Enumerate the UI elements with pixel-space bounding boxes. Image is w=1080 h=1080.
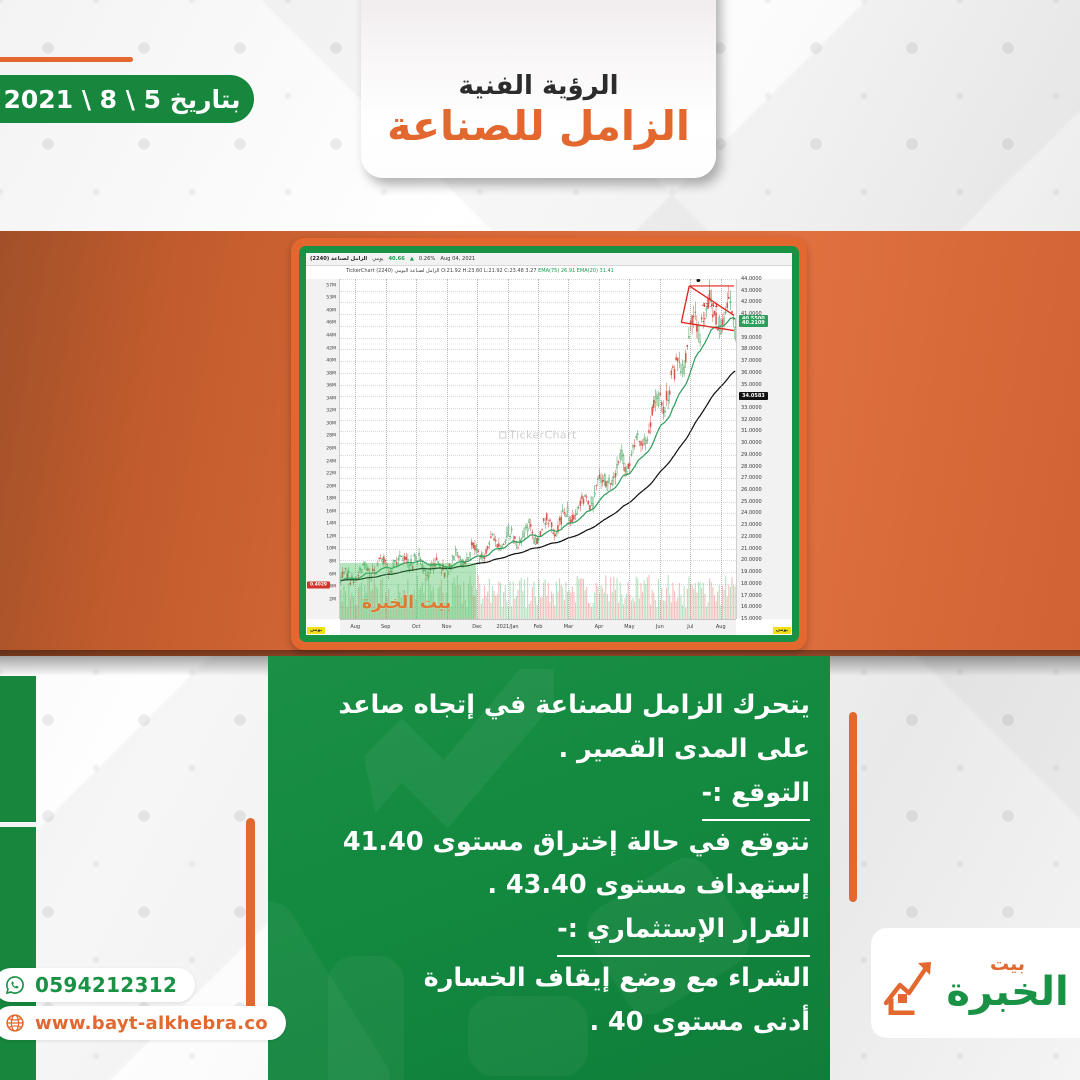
chart-ema75: EMA(75) 26.91 bbox=[538, 268, 575, 274]
contact-website-url: www.bayt-alkhebra.co bbox=[35, 1013, 268, 1034]
volume-tick: 44M bbox=[326, 334, 336, 339]
volume-tick: 22M bbox=[326, 472, 336, 477]
price-tick: 39.0000 bbox=[741, 335, 762, 341]
date-tick: Sep bbox=[381, 624, 390, 630]
date-tick: Feb bbox=[534, 624, 543, 630]
title-card: الرؤية الفنية الزامل للصناعة bbox=[361, 0, 716, 178]
analysis-heading-forecast: التوقع :- bbox=[702, 772, 811, 821]
grid-line-vertical bbox=[599, 279, 600, 619]
volume-tick: 4M bbox=[329, 585, 336, 590]
price-tick: 25.0000 bbox=[741, 499, 762, 505]
grid-line-vertical bbox=[568, 279, 569, 619]
brand-logo-words: بيت الخبرة bbox=[946, 955, 1068, 1012]
volume-tick: 2M bbox=[329, 597, 336, 602]
chart-overlay-watermark: بيت الخبرة bbox=[362, 593, 451, 613]
volume-tick: 12M bbox=[326, 534, 336, 539]
analysis-line-5: الشراء مع وضع إيقاف الخسارة bbox=[290, 957, 810, 1001]
analysis-heading-decision: القرار الإستثماري :- bbox=[557, 908, 810, 957]
resistance-annotation-label: 43.41 bbox=[702, 303, 718, 309]
price-tag: 34.0583 bbox=[739, 392, 768, 400]
left-green-edge-notch bbox=[0, 822, 36, 827]
volume-tick: 28M bbox=[326, 434, 336, 439]
price-tick: 17.0000 bbox=[741, 593, 762, 599]
watermark-square-icon bbox=[499, 432, 506, 439]
price-tick: 36.0000 bbox=[741, 370, 762, 376]
grid-line-vertical bbox=[721, 279, 722, 619]
poster: بتاريخ 5 \ 8 \ 2021 الرؤية الفنية الزامل… bbox=[0, 0, 1080, 1080]
price-tick: 42.0000 bbox=[741, 299, 762, 305]
chart-info-line: TickerChart الزامل لصناعة اليومي (2240) … bbox=[346, 268, 614, 274]
analysis-panel: يتحرك الزامل للصناعة في إتجاه صاعد على ا… bbox=[268, 656, 830, 1080]
date-badge: بتاريخ 5 \ 8 \ 2021 bbox=[0, 75, 254, 123]
price-tick: 19.0000 bbox=[741, 569, 762, 575]
price-tick: 29.0000 bbox=[741, 452, 762, 458]
date-tick: Jul bbox=[687, 624, 693, 630]
price-tick: 23.0000 bbox=[741, 522, 762, 528]
corner-tag-left: يومي bbox=[307, 627, 325, 634]
volume-tick: 8M bbox=[329, 559, 336, 564]
grid-line-vertical bbox=[538, 279, 539, 619]
chart-frame: الزامل لصناعة (2240) يومي 40.66 ▲ 0.26% … bbox=[291, 238, 807, 650]
price-tick: 44.0000 bbox=[741, 276, 762, 282]
analysis-line-3: نتوقع في حالة إختراق مستوى 41.40 bbox=[290, 821, 810, 865]
price-tick: 28.0000 bbox=[741, 464, 762, 470]
contact-phone-pill[interactable]: 0594212312 bbox=[0, 968, 195, 1002]
price-tick: 33.0000 bbox=[741, 405, 762, 411]
volume-tick: 16M bbox=[326, 509, 336, 514]
volume-tick: 46M bbox=[326, 321, 336, 326]
price-tick: 24.0000 bbox=[741, 510, 762, 516]
contact-website-pill[interactable]: www.bayt-alkhebra.co bbox=[0, 1006, 286, 1040]
grid-line-vertical bbox=[660, 279, 661, 619]
page-subtitle: الرؤية الفنية bbox=[459, 72, 619, 101]
page-title: الزامل للصناعة bbox=[387, 103, 690, 150]
volume-tick: 40M bbox=[326, 359, 336, 364]
price-tick: 31.0000 bbox=[741, 428, 762, 434]
analysis-text: يتحرك الزامل للصناعة في إتجاه صاعد على ا… bbox=[290, 684, 810, 1045]
chart-symbol: الزامل لصناعة (2240) bbox=[310, 256, 367, 262]
date-tick: Apr bbox=[595, 624, 604, 630]
grid-line-vertical bbox=[508, 279, 509, 619]
volume-tick: 53M bbox=[326, 296, 336, 301]
contact-phone-number: 0594212312 bbox=[35, 973, 177, 997]
volume-tick: 57M bbox=[326, 283, 336, 288]
chart-ema20: EMA(20) 31.41 bbox=[577, 268, 614, 274]
chart-watermark: TickerChart bbox=[499, 429, 576, 442]
date-tick: Nov bbox=[442, 624, 452, 630]
date-tick: Aug bbox=[716, 624, 726, 630]
chart-last-price: 40.66 bbox=[388, 256, 404, 262]
grid-line-vertical bbox=[690, 279, 691, 619]
analysis-line-2: على المدى القصير . bbox=[290, 728, 810, 772]
price-tick: 16.0000 bbox=[741, 604, 762, 610]
rising-arrow-chart-icon bbox=[882, 951, 942, 1015]
right-orange-accent-bar bbox=[849, 712, 857, 902]
volume-tick: 38M bbox=[326, 371, 336, 376]
date-axis: AugSepOctNovDec2021/JanFebMarAprMayJunJu… bbox=[340, 619, 736, 635]
chart-frame-inner: الزامل لصناعة (2240) يومي 40.66 ▲ 0.26% … bbox=[299, 246, 799, 642]
grid-line-horizontal bbox=[340, 619, 736, 620]
price-tick: 15.0000 bbox=[741, 616, 762, 622]
price-tick: 26.0000 bbox=[741, 487, 762, 493]
volume-tick: 14M bbox=[326, 522, 336, 527]
chart-plot-area[interactable]: TickerChart بيت الخبرة 43.41 bbox=[340, 279, 736, 619]
volume-tick: 6M bbox=[329, 572, 336, 577]
volume-tick: 36M bbox=[326, 384, 336, 389]
price-tick: 37.0000 bbox=[741, 358, 762, 364]
volume-axis: 57M53M49M46M44M42M40M38M36M34M32M30M28M2… bbox=[306, 279, 340, 619]
date-tick: Dec bbox=[472, 624, 482, 630]
globe-icon bbox=[4, 1012, 26, 1034]
chart-interval: يومي bbox=[372, 256, 383, 262]
chart-canvas[interactable]: الزامل لصناعة (2240) يومي 40.66 ▲ 0.26% … bbox=[306, 253, 792, 635]
chart-date: Aug 04, 2021 bbox=[440, 256, 475, 262]
volume-tick: 10M bbox=[326, 547, 336, 552]
price-tick: 27.0000 bbox=[741, 475, 762, 481]
volume-tick: 42M bbox=[326, 346, 336, 351]
chart-header-bar: الزامل لصناعة (2240) يومي 40.66 ▲ 0.26% … bbox=[306, 253, 792, 266]
price-tick: 22.0000 bbox=[741, 534, 762, 540]
volume-tick: 20M bbox=[326, 484, 336, 489]
corner-tag-right: يومي bbox=[773, 627, 791, 634]
price-tick: 18.0000 bbox=[741, 581, 762, 587]
volume-tick: 34M bbox=[326, 396, 336, 401]
price-tag: 40.2109 bbox=[739, 319, 768, 327]
volume-tick: 26M bbox=[326, 447, 336, 452]
date-tick: 2021/Jan bbox=[496, 624, 518, 630]
volume-price-tag: 0.4029 bbox=[307, 582, 330, 589]
whatsapp-icon bbox=[4, 974, 26, 996]
date-accent-rule bbox=[0, 57, 133, 62]
price-tick: 38.0000 bbox=[741, 346, 762, 352]
volume-tick: 32M bbox=[326, 409, 336, 414]
price-tick: 30.0000 bbox=[741, 440, 762, 446]
brand-logo: بيت الخبرة bbox=[871, 928, 1080, 1038]
chart-ohlc: TickerChart الزامل لصناعة اليومي (2240) … bbox=[346, 268, 537, 274]
volume-tick: 18M bbox=[326, 497, 336, 502]
date-tick: May bbox=[624, 624, 634, 630]
price-tick: 20.0000 bbox=[741, 557, 762, 563]
date-tick: Mar bbox=[564, 624, 573, 630]
grid-line-vertical bbox=[477, 279, 478, 619]
analysis-line-6: أدنى مستوى 40 . bbox=[290, 1001, 810, 1045]
volume-tick: 24M bbox=[326, 459, 336, 464]
watermark-text: TickerChart bbox=[509, 429, 576, 442]
brand-word-main: الخبرة bbox=[946, 972, 1068, 1012]
price-axis: 44.000043.000042.000041.000039.000038.00… bbox=[736, 279, 792, 619]
chart-change-percent: 0.26% bbox=[419, 256, 435, 262]
grid-line-vertical bbox=[629, 279, 630, 619]
date-tick: Jun bbox=[656, 624, 664, 630]
price-tick: 21.0000 bbox=[741, 546, 762, 552]
analysis-line-1: يتحرك الزامل للصناعة في إتجاه صاعد bbox=[290, 684, 810, 728]
chart-up-arrow-icon: ▲ bbox=[410, 256, 414, 262]
date-tick: Oct bbox=[412, 624, 421, 630]
volume-tick: 30M bbox=[326, 421, 336, 426]
date-tick: Aug bbox=[350, 624, 360, 630]
left-orange-accent-bar bbox=[246, 818, 255, 1018]
price-tick: 32.0000 bbox=[741, 417, 762, 423]
analysis-line-4: إستهداف مستوى 43.40 . bbox=[290, 864, 810, 908]
volume-tick: 49M bbox=[326, 308, 336, 313]
price-tick: 43.0000 bbox=[741, 288, 762, 294]
price-tick: 35.0000 bbox=[741, 382, 762, 388]
